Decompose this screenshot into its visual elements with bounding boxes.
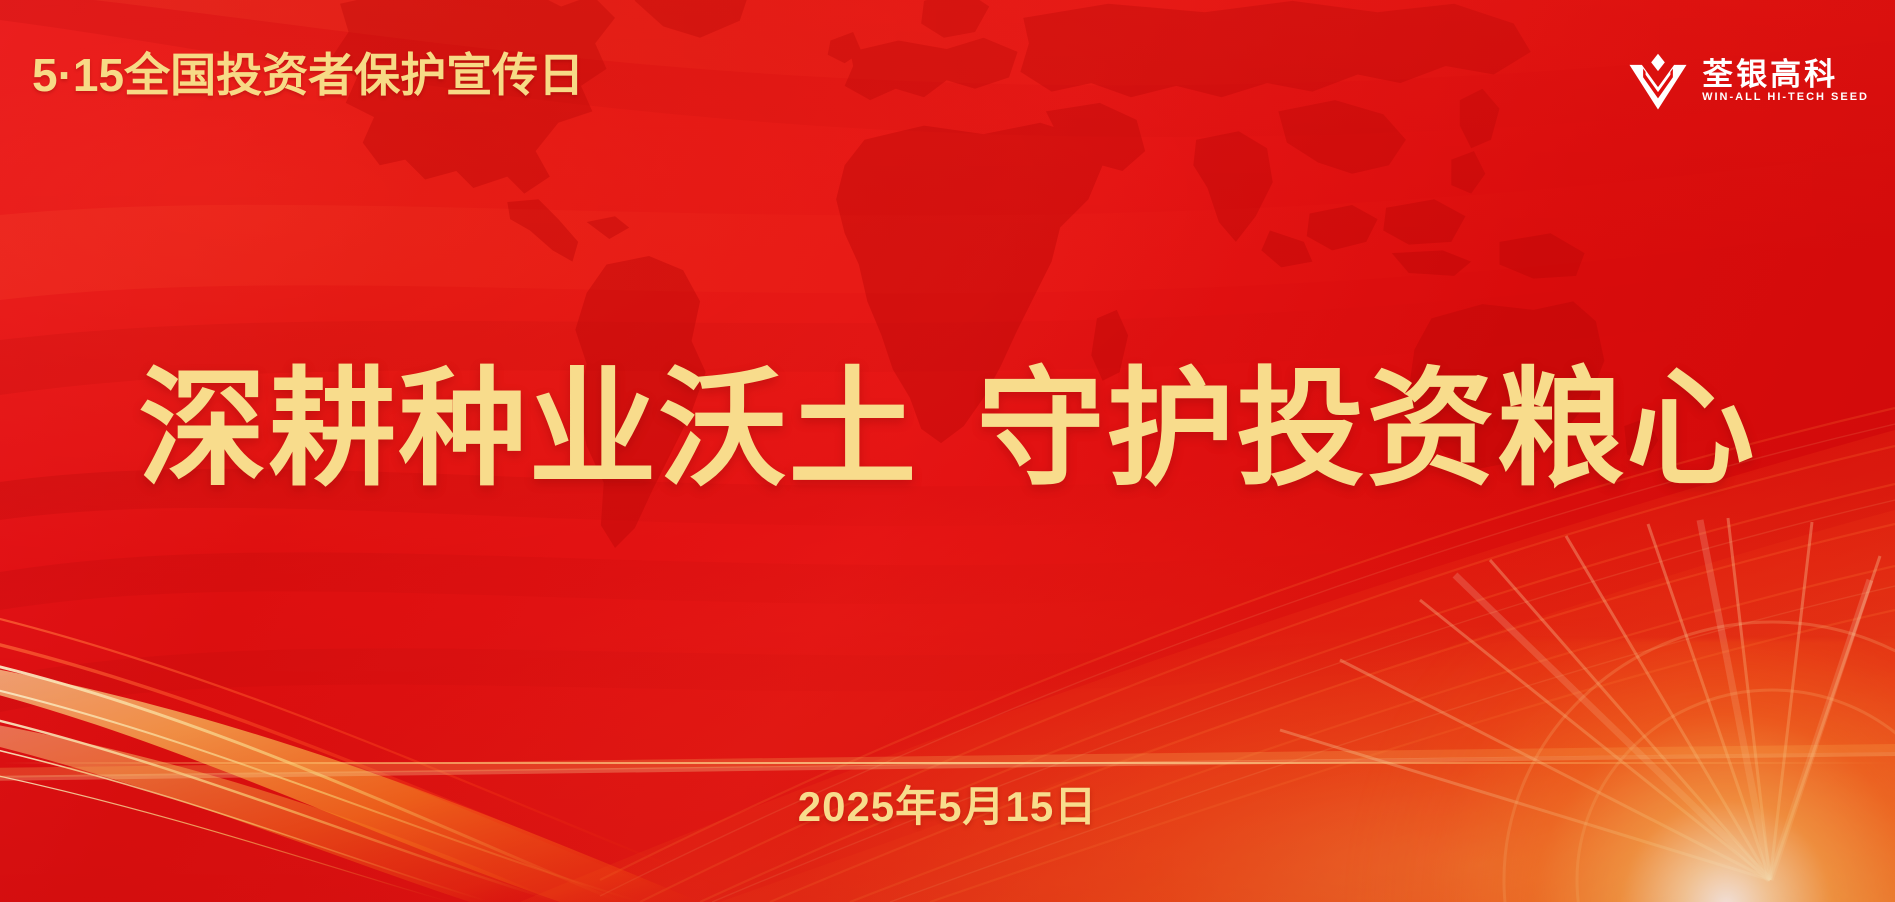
slogan-part-2: 守护投资粮心 — [977, 358, 1757, 501]
poster-content: 5·15全国投资者保护宣传日 荃银高科 WIN-ALL HI-TECH SEED — [0, 0, 1895, 902]
poster-canvas: 5·15全国投资者保护宣传日 荃银高科 WIN-ALL HI-TECH SEED — [0, 0, 1895, 902]
brand-name-en: WIN-ALL HI-TECH SEED — [1702, 92, 1869, 103]
double-chevron-diamond-logo-icon — [1627, 50, 1689, 112]
slogan-part-1: 深耕种业沃土 — [138, 358, 918, 501]
main-slogan: 深耕种业沃土守护投资粮心 — [0, 352, 1895, 508]
brand-wordmark: 荃银高科 WIN-ALL HI-TECH SEED — [1702, 59, 1869, 104]
brand-logo[interactable]: 荃银高科 WIN-ALL HI-TECH SEED — [1627, 50, 1869, 112]
brand-name-cn: 荃银高科 — [1702, 59, 1869, 91]
campaign-title: 5·15全国投资者保护宣传日 — [32, 52, 584, 98]
event-date: 2025年5月15日 — [0, 786, 1895, 828]
